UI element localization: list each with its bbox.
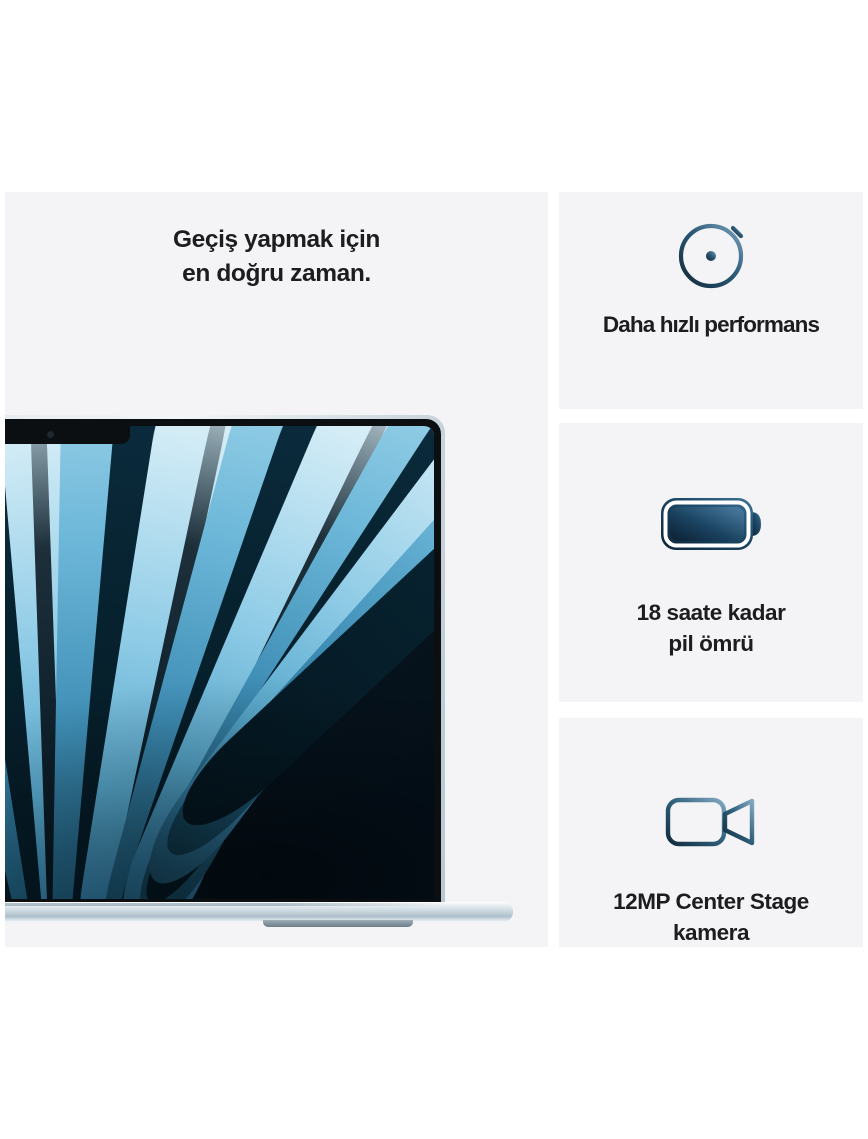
battery-icon [651, 486, 771, 562]
hero-headline: Geçiş yapmak için en doğru zaman. [5, 223, 548, 291]
feature-card-camera[interactable]: 12MP Center Stage kamera [559, 718, 863, 947]
macbook-screen [5, 426, 434, 899]
stopwatch-icon-wrap [559, 204, 863, 296]
macbook-base-seam [5, 903, 447, 906]
product-feature-stage: Geçiş yapmak için en doğru zaman. [0, 0, 868, 1139]
video-camera-icon [659, 783, 763, 859]
macbook-product-image [5, 415, 515, 947]
macbook-lid [5, 415, 445, 910]
battery-icon-wrap [559, 486, 863, 562]
feature-label-performance: Daha hızlı performans [559, 309, 863, 340]
macbook-bezel [5, 419, 441, 906]
desktop-wallpaper [5, 426, 434, 899]
feature-card-performance[interactable]: Daha hızlı performans [559, 192, 863, 409]
stopwatch-icon [665, 204, 757, 296]
feature-card-list: Daha hızlı performans [559, 192, 863, 947]
hero-panel: Geçiş yapmak için en doğru zaman. [5, 192, 548, 947]
feature-label-battery: 18 saate kadar pil ömrü [559, 597, 863, 659]
macbook-base-foot [263, 920, 413, 927]
video-camera-icon-wrap [559, 783, 863, 859]
display-notch [5, 426, 130, 444]
macbook-base-top [5, 902, 513, 922]
facetime-camera-icon [48, 432, 53, 437]
feature-label-camera: 12MP Center Stage kamera [559, 886, 863, 947]
feature-card-battery[interactable]: 18 saate kadar pil ömrü [559, 423, 863, 702]
content-band: Geçiş yapmak için en doğru zaman. [5, 192, 863, 947]
macbook-base [5, 902, 513, 934]
